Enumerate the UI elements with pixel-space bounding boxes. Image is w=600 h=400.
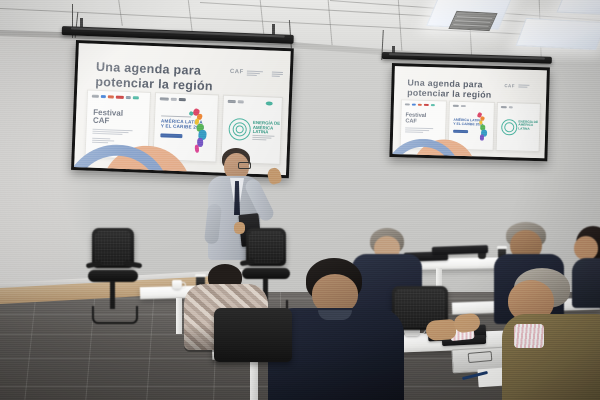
- chair-occupied-right: [214, 308, 292, 362]
- ceiling-air-vent: [448, 11, 497, 31]
- attendee-head: [574, 236, 598, 260]
- card-festival-line-2: CAF: [93, 117, 123, 127]
- chair-column: [110, 281, 115, 309]
- presenter-hand: [266, 167, 282, 186]
- attendee-collar: [318, 310, 352, 320]
- slide-secondary: Una agenda para potenciar la región CAF: [392, 66, 546, 158]
- logo-rule-lines: [518, 85, 529, 88]
- slide-title-secondary: Una agenda para potenciar la región: [407, 77, 492, 100]
- attendee-foreground-right: [492, 268, 600, 400]
- card-energia-line-2: AMÉRICA LATINA: [518, 124, 539, 131]
- card-energia-body-text: [252, 135, 274, 142]
- card-energia-headline: ENERGÍA DE AMÉRICA LATINA: [252, 121, 281, 136]
- presenter-glasses-icon: [238, 162, 251, 169]
- caf-logo-text: CAF: [230, 69, 244, 76]
- card-energia-headline: ENERGÍA DE AMÉRICA LATINA: [518, 121, 539, 132]
- card-partner-logos: [92, 95, 139, 100]
- card-partner-logos: [160, 97, 186, 101]
- card-festival-headline: Festival CAF: [405, 113, 426, 125]
- slide-brand-logo-secondary: CAF: [504, 83, 529, 89]
- logo-secondary-mark: [272, 71, 283, 76]
- latin-america-map-graphic: [473, 112, 492, 144]
- slide-title: Una agenda para potenciar la región: [95, 60, 214, 94]
- chair-empty-left: [86, 228, 140, 324]
- caf-logo-text: CAF: [504, 83, 515, 88]
- ceiling-light-panel: [515, 18, 600, 50]
- card-lac-cta-chip: [453, 130, 468, 133]
- slide-brand-logo: CAF: [230, 69, 283, 77]
- attendee-pink-shirt: [514, 324, 544, 348]
- attendee-writing-hand: [425, 319, 456, 341]
- screen-secondary-surface: Una agenda para potenciar la región CAF: [389, 63, 550, 161]
- card-energia-mark: [266, 101, 273, 105]
- chair-sled-base: [92, 306, 138, 324]
- card-festival-body-text: [92, 129, 133, 146]
- slide-title-secondary-line-2: potenciar la región: [407, 88, 492, 101]
- card-partner-logos: [228, 100, 244, 104]
- card-partner-logos: [405, 103, 435, 106]
- conference-room-photo: Una agenda para potenciar la región CAF: [0, 0, 600, 400]
- card-festival-line-2: CAF: [405, 119, 426, 125]
- logo-rule-lines: [247, 70, 263, 76]
- glasses: [468, 351, 493, 363]
- card-festival-headline: Festival CAF: [93, 109, 123, 127]
- card-partner-logos: [501, 106, 513, 108]
- slide-card-energia-secondary: ENERGÍA DE AMÉRICA LATINA: [496, 102, 541, 152]
- card-partner-logos: [453, 105, 466, 107]
- card-lac-cta-chip: [160, 133, 182, 138]
- card-festival-body-text: [405, 127, 433, 134]
